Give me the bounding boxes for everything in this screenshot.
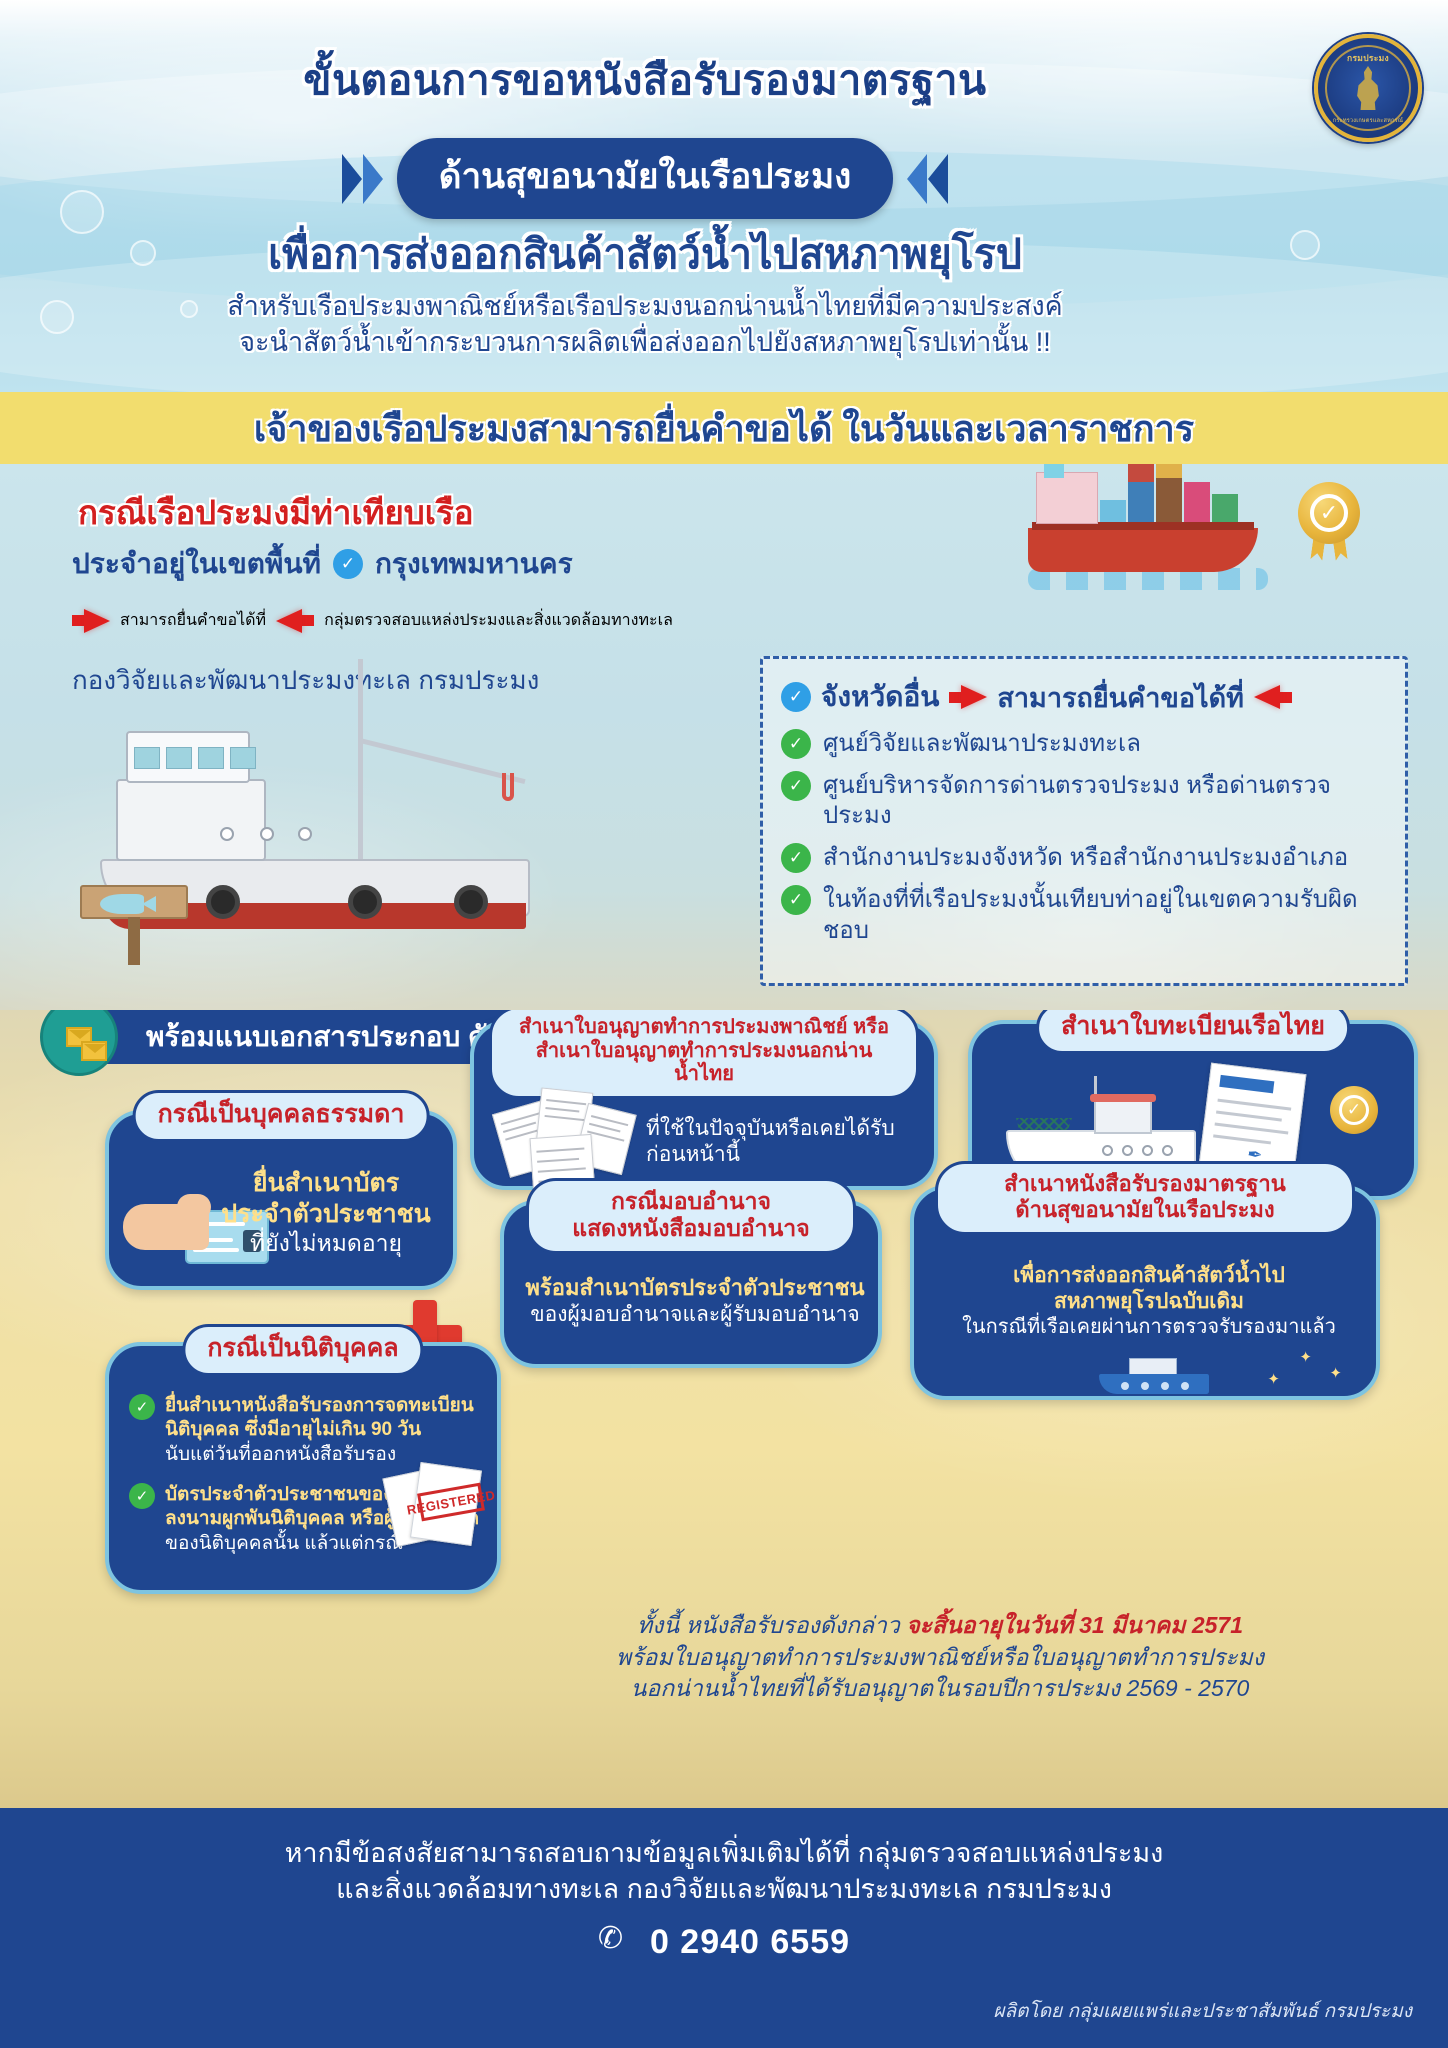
card-legal-entity-caption: กรณีเป็นนิติบุคคล (182, 1324, 423, 1376)
submit-label: สามารถยื่นคำขอได้ที่ (120, 608, 266, 633)
list-item: ✓ ยื่นสำเนาหนังสือรับรองการจดทะเบียน นิต… (129, 1394, 489, 1467)
registered-stamp-icon: REGISTERED (381, 1462, 491, 1554)
page-title: ขั้นตอนการขอหนังสือรับรองมาตรฐาน (0, 48, 1290, 113)
card-power-of-attorney-caption: กรณีมอบอำนาจ แสดงหนังสือมอบอำนาจ (526, 1178, 856, 1254)
check-badge-icon: ✓ (781, 682, 811, 712)
check-icon: ✓ (1310, 494, 1348, 532)
footer-phone-number[interactable]: 0 2940 6559 (650, 1923, 850, 1962)
seal-badge-icon: ✓ (1330, 1086, 1378, 1134)
card-power-of-attorney: กรณีมอบอำนาจ แสดงหนังสือมอบอำนาจ พร้อมสำ… (500, 1200, 882, 1368)
legal-item-1: ยื่นสำเนาหนังสือรับรองการจดทะเบียน นิติบ… (165, 1394, 474, 1467)
check-icon: ✓ (781, 885, 811, 915)
header-pill-label: ด้านสุขอนามัยในเรือประมง (397, 138, 894, 219)
card-power-of-attorney-body: พร้อมสำเนาบัตรประจำตัวประชาชน ของผู้มอบอ… (520, 1274, 870, 1328)
closing-line-1-prefix: ทั้งนี้ หนังสือรับรองดังกล่าว (637, 1612, 906, 1638)
sparkle-icon: ✦ (1329, 1364, 1342, 1382)
footer-credit: ผลิตโดย กลุ่มเผยแพร่และประชาสัมพันธ์ กรม… (993, 1996, 1412, 2026)
list-item: ✓ ศูนย์บริหารจัดการด่านตรวจประมง หรือด่า… (781, 771, 1387, 832)
check-icon: ✓ (781, 843, 811, 873)
area-value: กรุงเทพมหานคร (375, 542, 573, 586)
header-note-line-2: จะนำสัตว์น้ำเข้ากระบวนการผลิตเพื่อส่งออก… (0, 324, 1290, 360)
province-submit-label: สามารถยื่นคำขอได้ที่ (997, 676, 1244, 719)
natural-person-line-2: ประจำตัวประชาชน (217, 1199, 435, 1230)
yellow-banner-label: เจ้าของเรือประมงสามารถยื่นคำขอได้ ในวันแ… (254, 400, 1194, 457)
footer-line-1: หากมีข้อสงสัยสามารถสอบถามข้อมูลเพิ่มเติม… (0, 1836, 1448, 1872)
card-ship-registration-caption: สำเนาใบทะเบียนเรือไทย (1036, 1010, 1350, 1054)
power-body-line-1: พร้อมสำเนาบัตรประจำตัวประชาชน (520, 1274, 870, 1302)
page-subtitle: เพื่อการส่งออกสินค้าสัตว์น้ำไปสหภาพยุโรป (0, 222, 1290, 287)
prevcert-caption-line-1: สำเนาหนังสือรับรองมาตรฐาน (960, 1171, 1330, 1197)
office-option-1: ศูนย์วิจัยและพัฒนาประมงทะเล (823, 729, 1141, 760)
fishing-boat-icon (30, 639, 590, 969)
chevron-right-icon (342, 154, 383, 204)
office-option-3: สำนักงานประมงจังหวัด หรือสำนักงานประมงอำ… (823, 843, 1348, 874)
power-body-line-2: ของผู้มอบอำนาจและผู้รับมอบอำนาจ (520, 1302, 870, 1328)
arrow-right-icon (949, 685, 987, 709)
infographic-page: ขั้นตอนการขอหนังสือรับรองมาตรฐาน กรมประม… (0, 0, 1448, 2048)
natural-person-line-3: ที่ยังไม่หมดอายุ (217, 1229, 435, 1257)
middle-section: ✓ กรณีเรือประมงมีท่าเทียบเรือ ประจำอยู่ใ… (0, 464, 1448, 1010)
prevcert-caption-line-2: ด้านสุขอนามัยในเรือประมง (960, 1197, 1330, 1223)
legal-item-1-line-3: นับแต่วันที่ออกหนังสือรับรอง (165, 1444, 396, 1465)
cargo-ship-icon (1028, 470, 1278, 590)
office-option-4: ในท้องที่ที่เรือประมงนั้นเทียบท่าอยู่ในเ… (823, 885, 1387, 946)
power-caption-line-1: กรณีมอบอำนาจ (551, 1188, 831, 1215)
list-item: ✓ สำนักงานประมงจังหวัด หรือสำนักงานประมง… (781, 843, 1387, 874)
list-item: ✓ ศูนย์วิจัยและพัฒนาประมงทะเล (781, 729, 1387, 760)
header-section: ขั้นตอนการขอหนังสือรับรองมาตรฐาน กรมประม… (0, 0, 1448, 392)
attach-documents-label: พร้อมแนบเอกสารประกอบ ดังนี้ (146, 1015, 519, 1059)
area-line: ประจำอยู่ในเขตพื้นที่ ✓ กรุงเทพมหานคร (72, 542, 932, 586)
bubble-decoration (1290, 230, 1320, 260)
closing-note: ทั้งนี้ หนังสือรับรองดังกล่าว จะสิ้นอายุ… (460, 1610, 1420, 1705)
check-badge-icon: ✓ (333, 549, 363, 579)
card-previous-certificate-body: เพื่อการส่งออกสินค้าสัตว์น้ำไป สหภาพยุโร… (930, 1263, 1368, 1340)
header-note-line-1: สำหรับเรือประมงพาณิชย์หรือเรือประมงนอกน่… (0, 288, 1290, 324)
card-legal-entity: กรณีเป็นนิติบุคคล ✓ ยื่นสำเนาหนังสือรับร… (105, 1342, 501, 1594)
natural-person-line-1: ยื่นสำเนาบัตร (217, 1168, 435, 1199)
documents-section: พร้อมแนบเอกสารประกอบ ดังนี้ กรณีเป็นบุคค… (0, 1010, 1448, 1808)
arrow-right-icon (72, 609, 110, 633)
footer-section: หากมีข้อสงสัยสามารถสอบถามข้อมูลเพิ่มเติม… (0, 1808, 1448, 2048)
closing-expiry-highlight: จะสิ้นอายุในวันที่ 31 มีนาคม 2571 (906, 1612, 1243, 1638)
arrow-left-icon (276, 609, 314, 633)
area-label: ประจำอยู่ในเขตพื้นที่ (72, 542, 321, 586)
card-previous-certificate-caption: สำเนาหนังสือรับรองมาตรฐาน ด้านสุขอนามัยใ… (935, 1161, 1355, 1235)
chevron-left-icon (907, 154, 948, 204)
power-caption-line-2: แสดงหนังสือมอบอำนาจ (551, 1215, 831, 1242)
check-icon: ✓ (781, 729, 811, 759)
seal-top-text: กรมประมง (1327, 51, 1409, 65)
card-natural-person-caption: กรณีเป็นบุคคลธรรมดา (133, 1090, 430, 1142)
footer-phone-row[interactable]: ✆ 0 2940 6559 (0, 1923, 1448, 1962)
yellow-banner: เจ้าของเรือประมงสามารถยื่นคำขอได้ ในวันแ… (0, 392, 1448, 464)
card-fishing-license: สำเนาใบอนุญาตทำการประมงพาณิชย์ หรือสำเนา… (470, 1020, 938, 1190)
department-seal-icon: กรมประมง กระทรวงเกษตรและสหกรณ์ (1314, 34, 1422, 142)
seal-bottom-text: กระทรวงเกษตรและสหกรณ์ (1327, 117, 1409, 125)
prevcert-body-line-2: สหภาพยุโรปฉบับเดิม (930, 1289, 1368, 1315)
office-option-2: ศูนย์บริหารจัดการด่านตรวจประมง หรือด่านต… (823, 771, 1387, 832)
legal-item-1-line-1: ยื่นสำเนาหนังสือรับรองการจดทะเบียน (165, 1395, 474, 1416)
submit-line: สามารถยื่นคำขอได้ที่ กลุ่มตรวจสอบแหล่งปร… (72, 608, 673, 633)
list-item: ✓ ในท้องที่ที่เรือประมงนั้นเทียบท่าอยู่ใ… (781, 885, 1387, 946)
header-note: สำหรับเรือประมงพาณิชย์หรือเรือประมงนอกน่… (0, 288, 1290, 361)
prevcert-body-line-3: ในกรณีที่เรือเคยผ่านการตรวจรับรองมาแล้ว (930, 1315, 1368, 1340)
card-previous-certificate: สำเนาหนังสือรับรองมาตรฐาน ด้านสุขอนามัยใ… (910, 1185, 1380, 1400)
seal-figure-icon (1351, 66, 1385, 110)
card-natural-person-body: ยื่นสำเนาบัตร ประจำตัวประชาชน ที่ยังไม่ห… (217, 1168, 435, 1257)
province-label: จังหวัดอื่น (821, 675, 939, 719)
closing-line-2: พร้อมใบอนุญาตทำการประมงพาณิชย์หรือใบอนุญ… (460, 1642, 1420, 1674)
header-pill-row: ด้านสุขอนามัยในเรือประมง (0, 138, 1290, 219)
section-title-port: กรณีเรือประมงมีท่าเทียบเรือ (78, 486, 474, 539)
check-icon: ✓ (129, 1483, 155, 1509)
arrow-left-icon (1254, 685, 1292, 709)
phone-icon: ✆ (598, 1924, 636, 1962)
closing-line-3: นอกน่านน้ำไทยที่ได้รับอนุญาตในรอบปีการปร… (460, 1673, 1420, 1705)
small-boat-icon (1099, 1352, 1209, 1394)
legal-item-2-line-3: ของนิติบุคคลนั้น แล้วแต่กรณี (165, 1533, 403, 1554)
sparkle-icon: ✦ (1267, 1370, 1280, 1388)
check-icon: ✓ (129, 1394, 155, 1420)
prevcert-body-line-1: เพื่อการส่งออกสินค้าสัตว์น้ำไป (930, 1263, 1368, 1289)
other-provinces-header: ✓ จังหวัดอื่น สามารถยื่นคำขอได้ที่ (781, 675, 1387, 719)
check-icon: ✓ (781, 771, 811, 801)
office-line-1: กลุ่มตรวจสอบแหล่งประมงและสิ่งแวดล้อมทางท… (324, 608, 673, 633)
card-natural-person: กรณีเป็นบุคคลธรรมดา ยื่นสำเนาบัตร ประจำต… (105, 1110, 457, 1290)
legal-item-1-line-2: นิติบุคคล ซึ่งมีอายุไม่เกิน 90 วัน (165, 1419, 421, 1440)
attach-documents-bar: พร้อมแนบเอกสารประกอบ ดังนี้ (60, 1010, 530, 1064)
other-provinces-box: ✓ จังหวัดอื่น สามารถยื่นคำขอได้ที่ ✓ ศูน… (760, 656, 1408, 986)
quality-badge-icon: ✓ (1298, 482, 1360, 544)
footer-line-2: และสิ่งแวดล้อมทางทะเล กองวิจัยและพัฒนาปร… (0, 1872, 1448, 1908)
closing-line-1: ทั้งนี้ หนังสือรับรองดังกล่าว จะสิ้นอายุ… (460, 1610, 1420, 1642)
port-area-block: ประจำอยู่ในเขตพื้นที่ ✓ กรุงเทพมหานคร (72, 542, 932, 600)
sparkle-icon: ✦ (1299, 1348, 1312, 1366)
card-fishing-license-body: ที่ใช้ในปัจจุบันหรือเคยได้รับก่อนหน้านี้ (646, 1116, 916, 1167)
